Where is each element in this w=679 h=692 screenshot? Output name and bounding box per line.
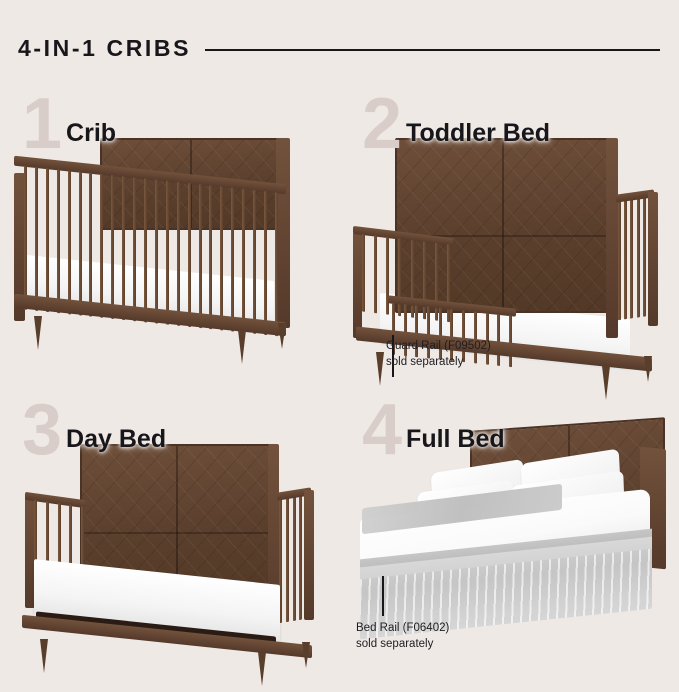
toddler-footboard-slats bbox=[618, 196, 652, 321]
toddler-headboard-seam bbox=[502, 140, 504, 311]
bed-rail-leader-line bbox=[382, 576, 384, 616]
panel-full-bed: 4 Full Bed Bed Rail (F06402) sold separa… bbox=[340, 386, 679, 692]
panel-toddler-bed: 2 Toddler Bed bbox=[340, 80, 679, 386]
crib-right-post bbox=[276, 138, 290, 328]
toddler-leg-front-left bbox=[376, 352, 384, 386]
page-header: 4-IN-1 CRIBS bbox=[18, 28, 660, 68]
day-bed-illustration bbox=[0, 386, 340, 692]
panel-day-bed: 3 Day Bed bbox=[0, 386, 340, 692]
toddler-leg-back-right bbox=[644, 356, 652, 382]
daybed-leg-front-right bbox=[258, 652, 266, 686]
header-divider-line bbox=[205, 49, 660, 51]
daybed-leg-front-left bbox=[40, 639, 48, 673]
page-title: 4-IN-1 CRIBS bbox=[18, 35, 191, 62]
daybed-right-end-post bbox=[304, 490, 314, 620]
toddler-right-post bbox=[606, 138, 618, 338]
crib-leg-front-right bbox=[238, 330, 246, 364]
crib-illustration bbox=[0, 80, 340, 386]
panel-crib: 1 Crib bbox=[0, 80, 340, 386]
crib-leg-front-left bbox=[34, 316, 42, 350]
daybed-headboard-hseam bbox=[82, 532, 270, 534]
toddler-right-end-post bbox=[648, 192, 658, 326]
bed-rail-annotation: Bed Rail (F06402) sold separately bbox=[356, 621, 449, 652]
daybed-leg-back-right bbox=[302, 642, 310, 668]
toddler-guard-rail-post-left bbox=[353, 232, 362, 338]
crib-leg-back-right bbox=[278, 323, 286, 349]
guard-rail-annotation: Guard Rail (F09502) sold separately bbox=[386, 339, 491, 370]
